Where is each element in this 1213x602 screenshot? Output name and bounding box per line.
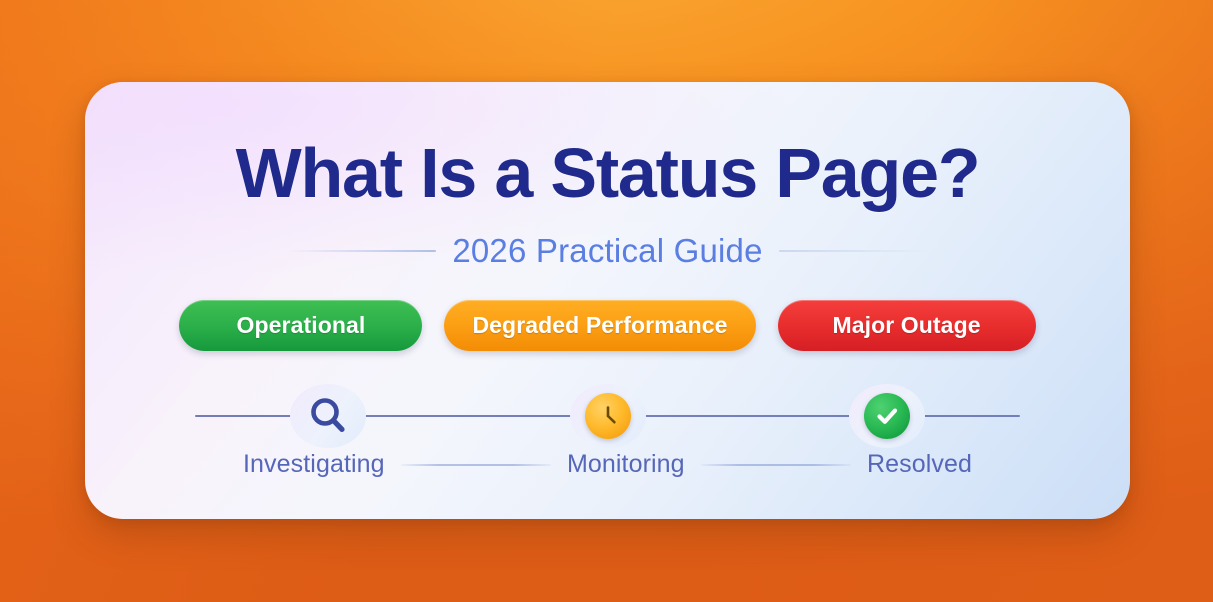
page-subtitle: 2026 Practical Guide [452,232,762,270]
label-rule-1 [401,464,551,466]
status-badge-degraded-performance[interactable]: Degraded Performance [444,300,755,351]
status-pill-row: Operational Degraded Performance Major O… [179,300,1035,351]
status-badge-major-outage[interactable]: Major Outage [778,300,1036,351]
subtitle-rule-left [286,250,436,252]
status-badge-operational[interactable]: Operational [179,300,422,351]
subtitle-row: 2026 Practical Guide [85,232,1130,270]
check-circle-icon [864,393,910,439]
clock-icon [585,393,631,439]
magnifying-glass-icon [305,393,351,439]
timeline-label-monitoring: Monitoring [567,450,685,479]
incident-timeline: Investigating Monitoring Resolved [195,388,1020,479]
timeline-label-investigating: Investigating [243,450,385,479]
timeline-label-resolved: Resolved [867,450,972,479]
timeline-step-resolved[interactable] [859,388,915,444]
timeline-step-monitoring[interactable] [580,388,636,444]
timeline-track [195,388,1020,444]
label-rule-2 [701,464,851,466]
subtitle-rule-right [779,250,929,252]
timeline-labels: Investigating Monitoring Resolved [195,450,1020,479]
timeline-step-investigating[interactable] [300,388,356,444]
timeline-nodes [195,388,1020,444]
status-page-card: What Is a Status Page? 2026 Practical Gu… [85,82,1130,519]
page-title: What Is a Status Page? [236,138,980,208]
